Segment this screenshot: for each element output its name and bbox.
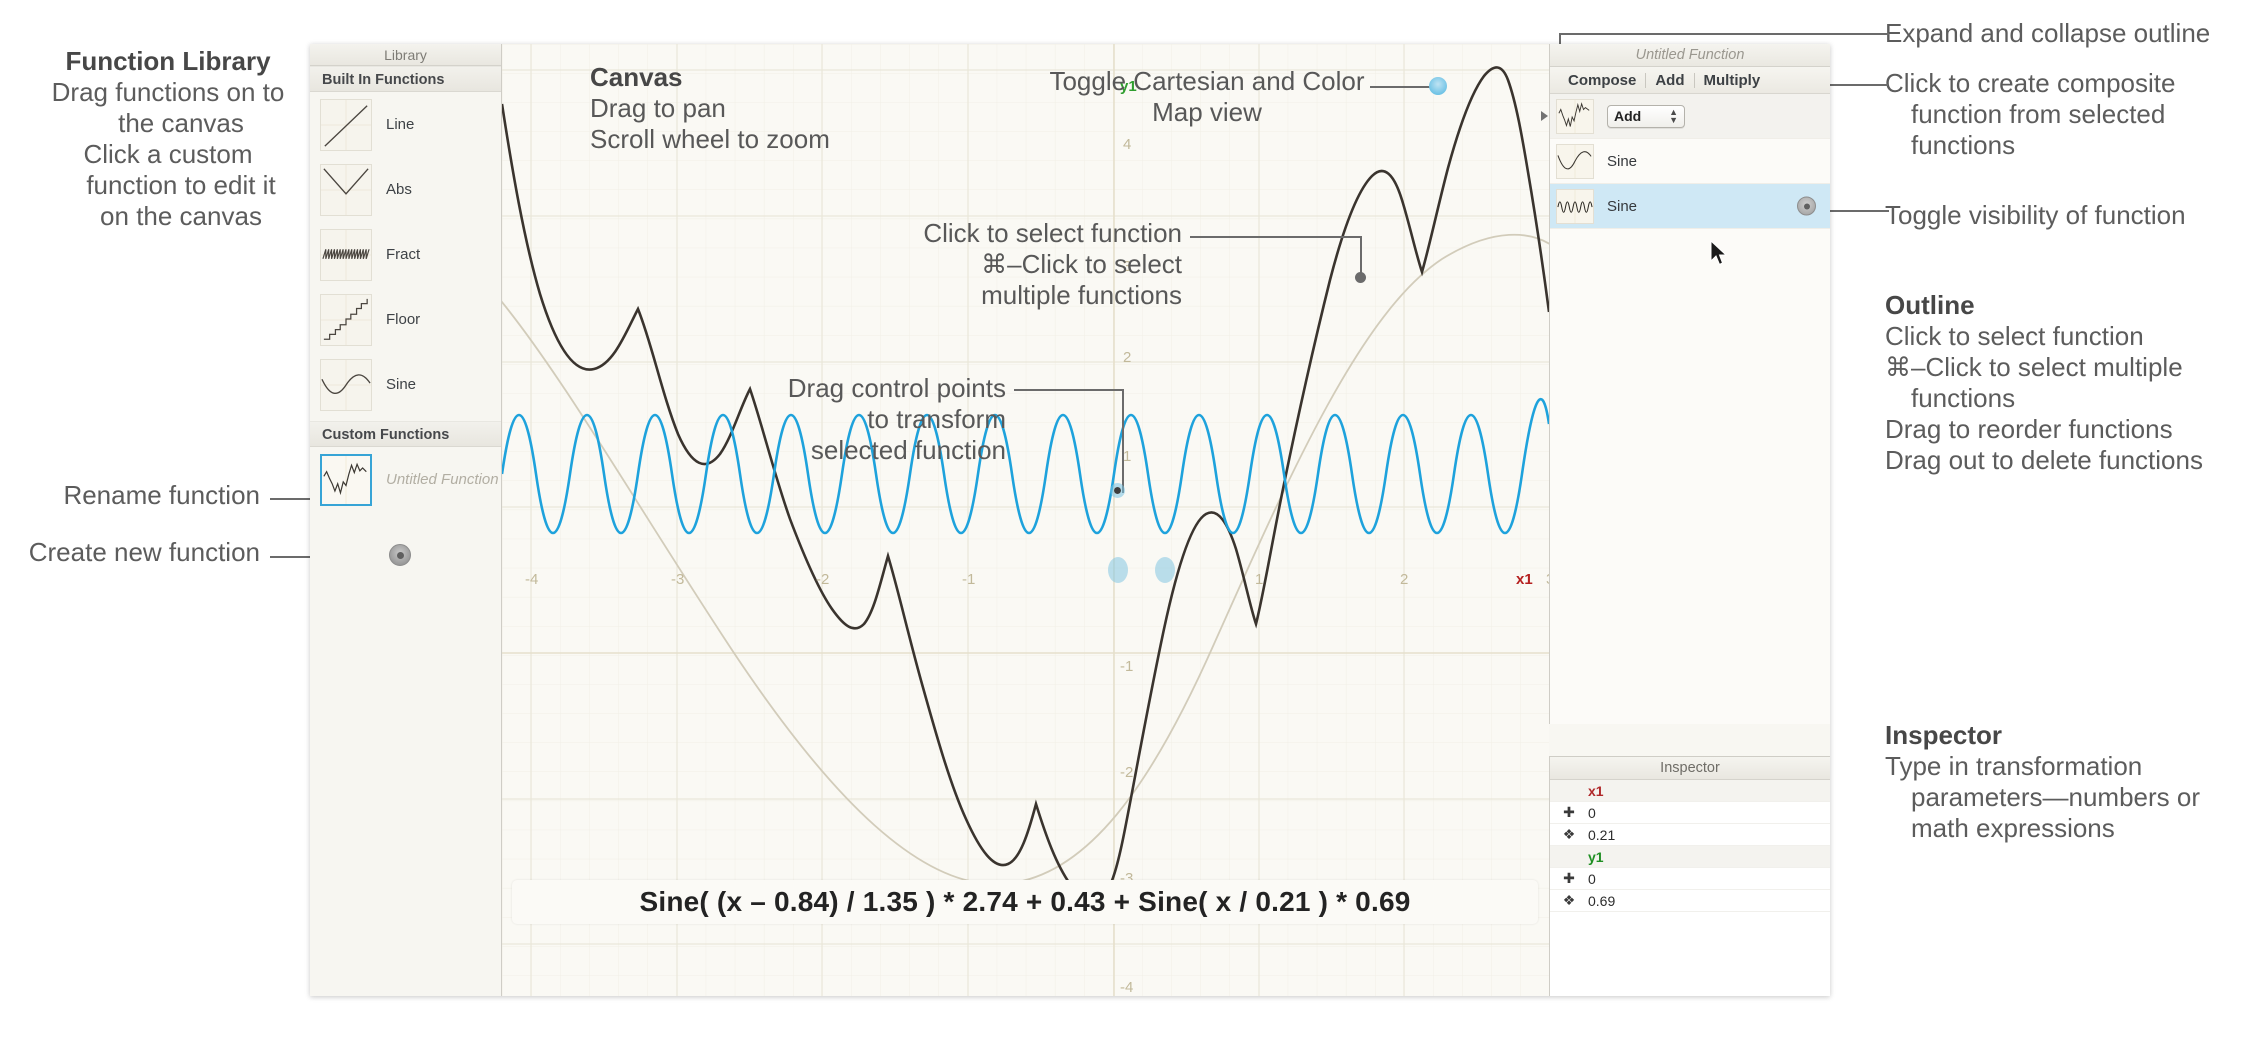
- note-line: Toggle Cartesian and Color Map view: [1049, 66, 1364, 127]
- x-tick: -1: [962, 571, 975, 588]
- note-line: multiple functions: [981, 280, 1182, 310]
- annotation-rename-function: Rename function: [20, 480, 260, 511]
- inspector-group-name: x1: [1550, 783, 1604, 799]
- multiply-button[interactable]: Multiply: [1695, 72, 1770, 89]
- leader-drag-control-points: [1014, 389, 1124, 391]
- floor-icon: [320, 294, 372, 346]
- inspector-value: 0: [1588, 805, 1596, 821]
- note-heading: Canvas: [590, 62, 920, 93]
- inspector-value: 0.69: [1588, 893, 1615, 909]
- scale-icon: ❖: [1550, 826, 1588, 843]
- inspector-value: 0.21: [1588, 827, 1615, 843]
- annotation-create-new-function: Create new function: [10, 537, 260, 568]
- library-item-custom-untitled[interactable]: Untitled Function: [310, 447, 501, 512]
- formula-bar[interactable]: Sine( (x – 0.84) / 1.35 ) * 2.74 + 0.43 …: [512, 880, 1538, 924]
- note-line: to transform: [867, 404, 1006, 434]
- leader-drag-control-points-drop: [1122, 389, 1124, 493]
- move-icon: ✚: [1550, 804, 1588, 821]
- annotation-text: Expand and collapse outline: [1885, 18, 2210, 48]
- library-item-label: Line: [386, 116, 414, 133]
- library-panel-title: Library: [310, 44, 501, 66]
- x-tick: -4: [525, 571, 538, 588]
- inspector-row-x-scale[interactable]: ❖ 0.21: [1550, 824, 1830, 846]
- annotation-heading: Outline: [1885, 290, 2235, 321]
- scale-icon: ❖: [1550, 892, 1588, 909]
- canvas-plot-area[interactable]: y1 4 3 2 1 -1 -2 -3 -4 -4 -3 -2 -1 1 2 3…: [502, 44, 1549, 996]
- library-item-label: Fract: [386, 246, 420, 263]
- note-line: ⌘–Click to select: [981, 249, 1182, 279]
- library-item-label: Abs: [386, 181, 412, 198]
- annotation-text: Rename function: [63, 480, 260, 510]
- toggle-view-button[interactable]: [1429, 77, 1447, 95]
- app-window: Library Built In Functions Line Abs Frac…: [310, 44, 1830, 996]
- library-item-sine[interactable]: Sine: [310, 352, 501, 417]
- annotation-text: Click to create composite function from …: [1885, 68, 2215, 161]
- y-tick: 1: [1123, 448, 1131, 465]
- inspector-panel-title: Inspector: [1550, 757, 1830, 780]
- inspector-row-x-translate[interactable]: ✚ 0: [1550, 802, 1830, 824]
- leader-select-function-drop: [1360, 236, 1362, 276]
- outline-row-composite[interactable]: Add ▲▼: [1550, 94, 1830, 139]
- visibility-toggle[interactable]: [1797, 197, 1816, 216]
- leader-endpoint-dot: [1355, 272, 1366, 283]
- x-axis-label: x1: [1516, 571, 1533, 588]
- canvas-grid: [502, 44, 1549, 996]
- sine-icon: [320, 359, 372, 411]
- library-item-label: Untitled Function: [386, 471, 499, 488]
- x-tick: -3: [671, 571, 684, 588]
- canvas-note-canvas: Canvas Drag to pan Scroll wheel to zoom: [590, 62, 920, 155]
- annotation-heading: Inspector: [1885, 720, 2225, 751]
- annotation-text: Toggle visibility of function: [1885, 200, 2215, 231]
- annotation-toggle-visibility: Toggle visibility of function: [1885, 200, 2215, 231]
- control-point-x-scale[interactable]: [1155, 557, 1175, 583]
- annotation-create-composite: Click to create composite function from …: [1885, 68, 2215, 161]
- y-tick: -4: [1120, 979, 1133, 996]
- custom-function-icon: [320, 454, 372, 506]
- stepper-arrows-icon: ▲▼: [1669, 108, 1678, 124]
- note-line: Scroll wheel to zoom: [590, 124, 830, 154]
- inspector-group-header-x1: x1: [1550, 780, 1830, 802]
- note-line: Drag to pan: [590, 93, 726, 123]
- annotation-line: Type in transformation parameters—number…: [1885, 751, 2225, 844]
- operator-select[interactable]: Add ▲▼: [1607, 105, 1685, 128]
- leader-expand-collapse: [1559, 33, 1889, 35]
- x-tick: 2: [1400, 571, 1408, 588]
- library-item-fract[interactable]: Fract: [310, 222, 501, 287]
- mouse-cursor: [1710, 240, 1728, 266]
- outline-row-label: Sine: [1607, 153, 1637, 170]
- line-icon: [320, 99, 372, 151]
- composite-function-icon: [1556, 99, 1594, 134]
- inspector-value: 0: [1588, 871, 1596, 887]
- annotation-function-library: Function Library Drag functions on to th…: [48, 46, 288, 232]
- note-line: Drag control points: [788, 373, 1006, 403]
- outline-panel-title[interactable]: Untitled Function: [1550, 44, 1830, 67]
- inspector-row-y-scale[interactable]: ❖ 0.69: [1550, 890, 1830, 912]
- note-line: Click to select function: [923, 218, 1182, 248]
- annotation-text: Create new function: [29, 537, 260, 567]
- canvas-note-toggle-view: Toggle Cartesian and Color Map view: [1042, 66, 1372, 128]
- annotation-expand-collapse: Expand and collapse outline: [1885, 18, 2235, 49]
- inspector-group-header-y1: y1: [1550, 846, 1830, 868]
- library-item-abs[interactable]: Abs: [310, 157, 501, 222]
- compose-button[interactable]: Compose: [1559, 72, 1645, 89]
- library-item-line[interactable]: Line: [310, 92, 501, 157]
- add-button[interactable]: Add: [1646, 72, 1693, 89]
- fract-icon: [320, 229, 372, 281]
- y-tick: 2: [1123, 349, 1131, 366]
- y-tick: 4: [1123, 136, 1131, 153]
- sine-dense-icon: [1556, 189, 1594, 224]
- annotation-line: Click a custom function to edit it on th…: [48, 139, 288, 232]
- library-item-label: Floor: [386, 311, 420, 328]
- library-item-label: Sine: [386, 376, 416, 393]
- annotation-heading: Function Library: [48, 46, 288, 77]
- annotation-line: Click to select function: [1885, 321, 2235, 352]
- x-tick: 1: [1255, 571, 1263, 588]
- custom-functions-header: Custom Functions: [310, 421, 501, 447]
- annotation-line: ⌘–Click to select multiple functions: [1885, 352, 2235, 414]
- outline-panel: Untitled Function Compose Add Multiply A…: [1549, 44, 1830, 724]
- move-icon: ✚: [1550, 870, 1588, 887]
- control-point-y-scale[interactable]: [1110, 483, 1125, 498]
- library-panel: Library Built In Functions Line Abs Frac…: [310, 44, 502, 996]
- inspector-row-y-translate[interactable]: ✚ 0: [1550, 868, 1830, 890]
- create-new-function-button[interactable]: [389, 544, 411, 566]
- canvas-note-drag-control-points: Drag control points to transform selecte…: [678, 373, 1006, 466]
- y-tick: -1: [1120, 658, 1133, 675]
- leader-select-function: [1190, 236, 1362, 238]
- chevron-right-icon[interactable]: [1541, 111, 1548, 121]
- y-tick: -2: [1120, 764, 1133, 781]
- sine-smooth-icon: [1556, 144, 1594, 179]
- annotation-line: Drag to reorder functions: [1885, 414, 2235, 445]
- outline-row-sine-dense[interactable]: Sine: [1550, 184, 1830, 229]
- library-item-floor[interactable]: Floor: [310, 287, 501, 352]
- formula-text: Sine( (x – 0.84) / 1.35 ) * 2.74 + 0.43 …: [640, 886, 1411, 918]
- annotation-inspector: Inspector Type in transformation paramet…: [1885, 720, 2225, 844]
- canvas-note-select-function: Click to select function ⌘–Click to sele…: [862, 218, 1182, 311]
- x-tick: -2: [816, 571, 829, 588]
- control-point-origin[interactable]: [1108, 557, 1128, 583]
- screenshot-root: Function Library Drag functions on to th…: [0, 0, 2252, 1047]
- note-line: selected function: [811, 435, 1006, 465]
- outline-row-sine-smooth[interactable]: Sine: [1550, 139, 1830, 184]
- annotation-outline: Outline Click to select function ⌘–Click…: [1885, 290, 2235, 476]
- outline-toolbar: Compose Add Multiply: [1550, 67, 1830, 94]
- inspector-panel: Inspector x1 ✚ 0 ❖ 0.21 y1 ✚ 0 ❖ 0.69: [1549, 756, 1830, 996]
- annotation-line: Drag functions on to the canvas: [48, 77, 288, 139]
- abs-icon: [320, 164, 372, 216]
- operator-select-value: Add: [1614, 108, 1641, 124]
- annotation-line: Drag out to delete functions: [1885, 445, 2235, 476]
- outline-row-label: Sine: [1607, 198, 1637, 215]
- built-in-functions-header: Built In Functions: [310, 66, 501, 92]
- inspector-group-name: y1: [1550, 849, 1604, 865]
- leader-toggle-view: [1370, 86, 1432, 88]
